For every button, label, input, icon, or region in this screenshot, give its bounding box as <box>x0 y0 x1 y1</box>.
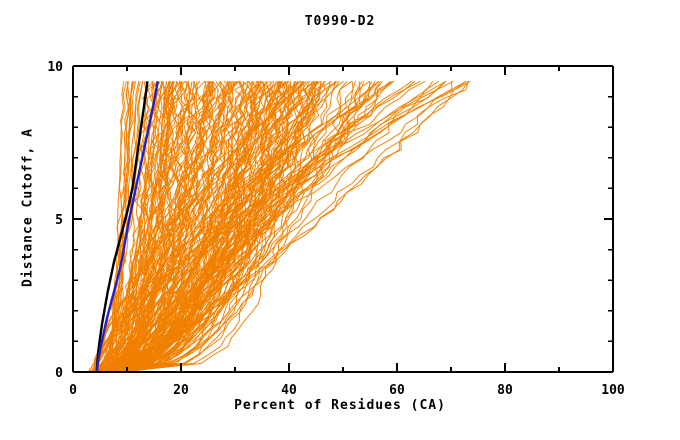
plot-area: 0204060801000510 <box>0 0 680 440</box>
x-tick-label: 100 <box>601 383 625 398</box>
y-tick-label: 0 <box>55 366 63 381</box>
x-tick-label: 80 <box>497 383 513 398</box>
x-tick-label: 0 <box>69 383 77 398</box>
x-tick-label: 40 <box>281 383 297 398</box>
y-tick-label: 10 <box>47 60 63 75</box>
x-tick-label: 60 <box>389 383 405 398</box>
x-tick-label: 20 <box>173 383 189 398</box>
chart-figure: T0990-D2 Percent of Residues (CA) Distan… <box>0 0 680 440</box>
y-tick-label: 5 <box>55 213 63 228</box>
ensemble-curves <box>88 81 470 372</box>
